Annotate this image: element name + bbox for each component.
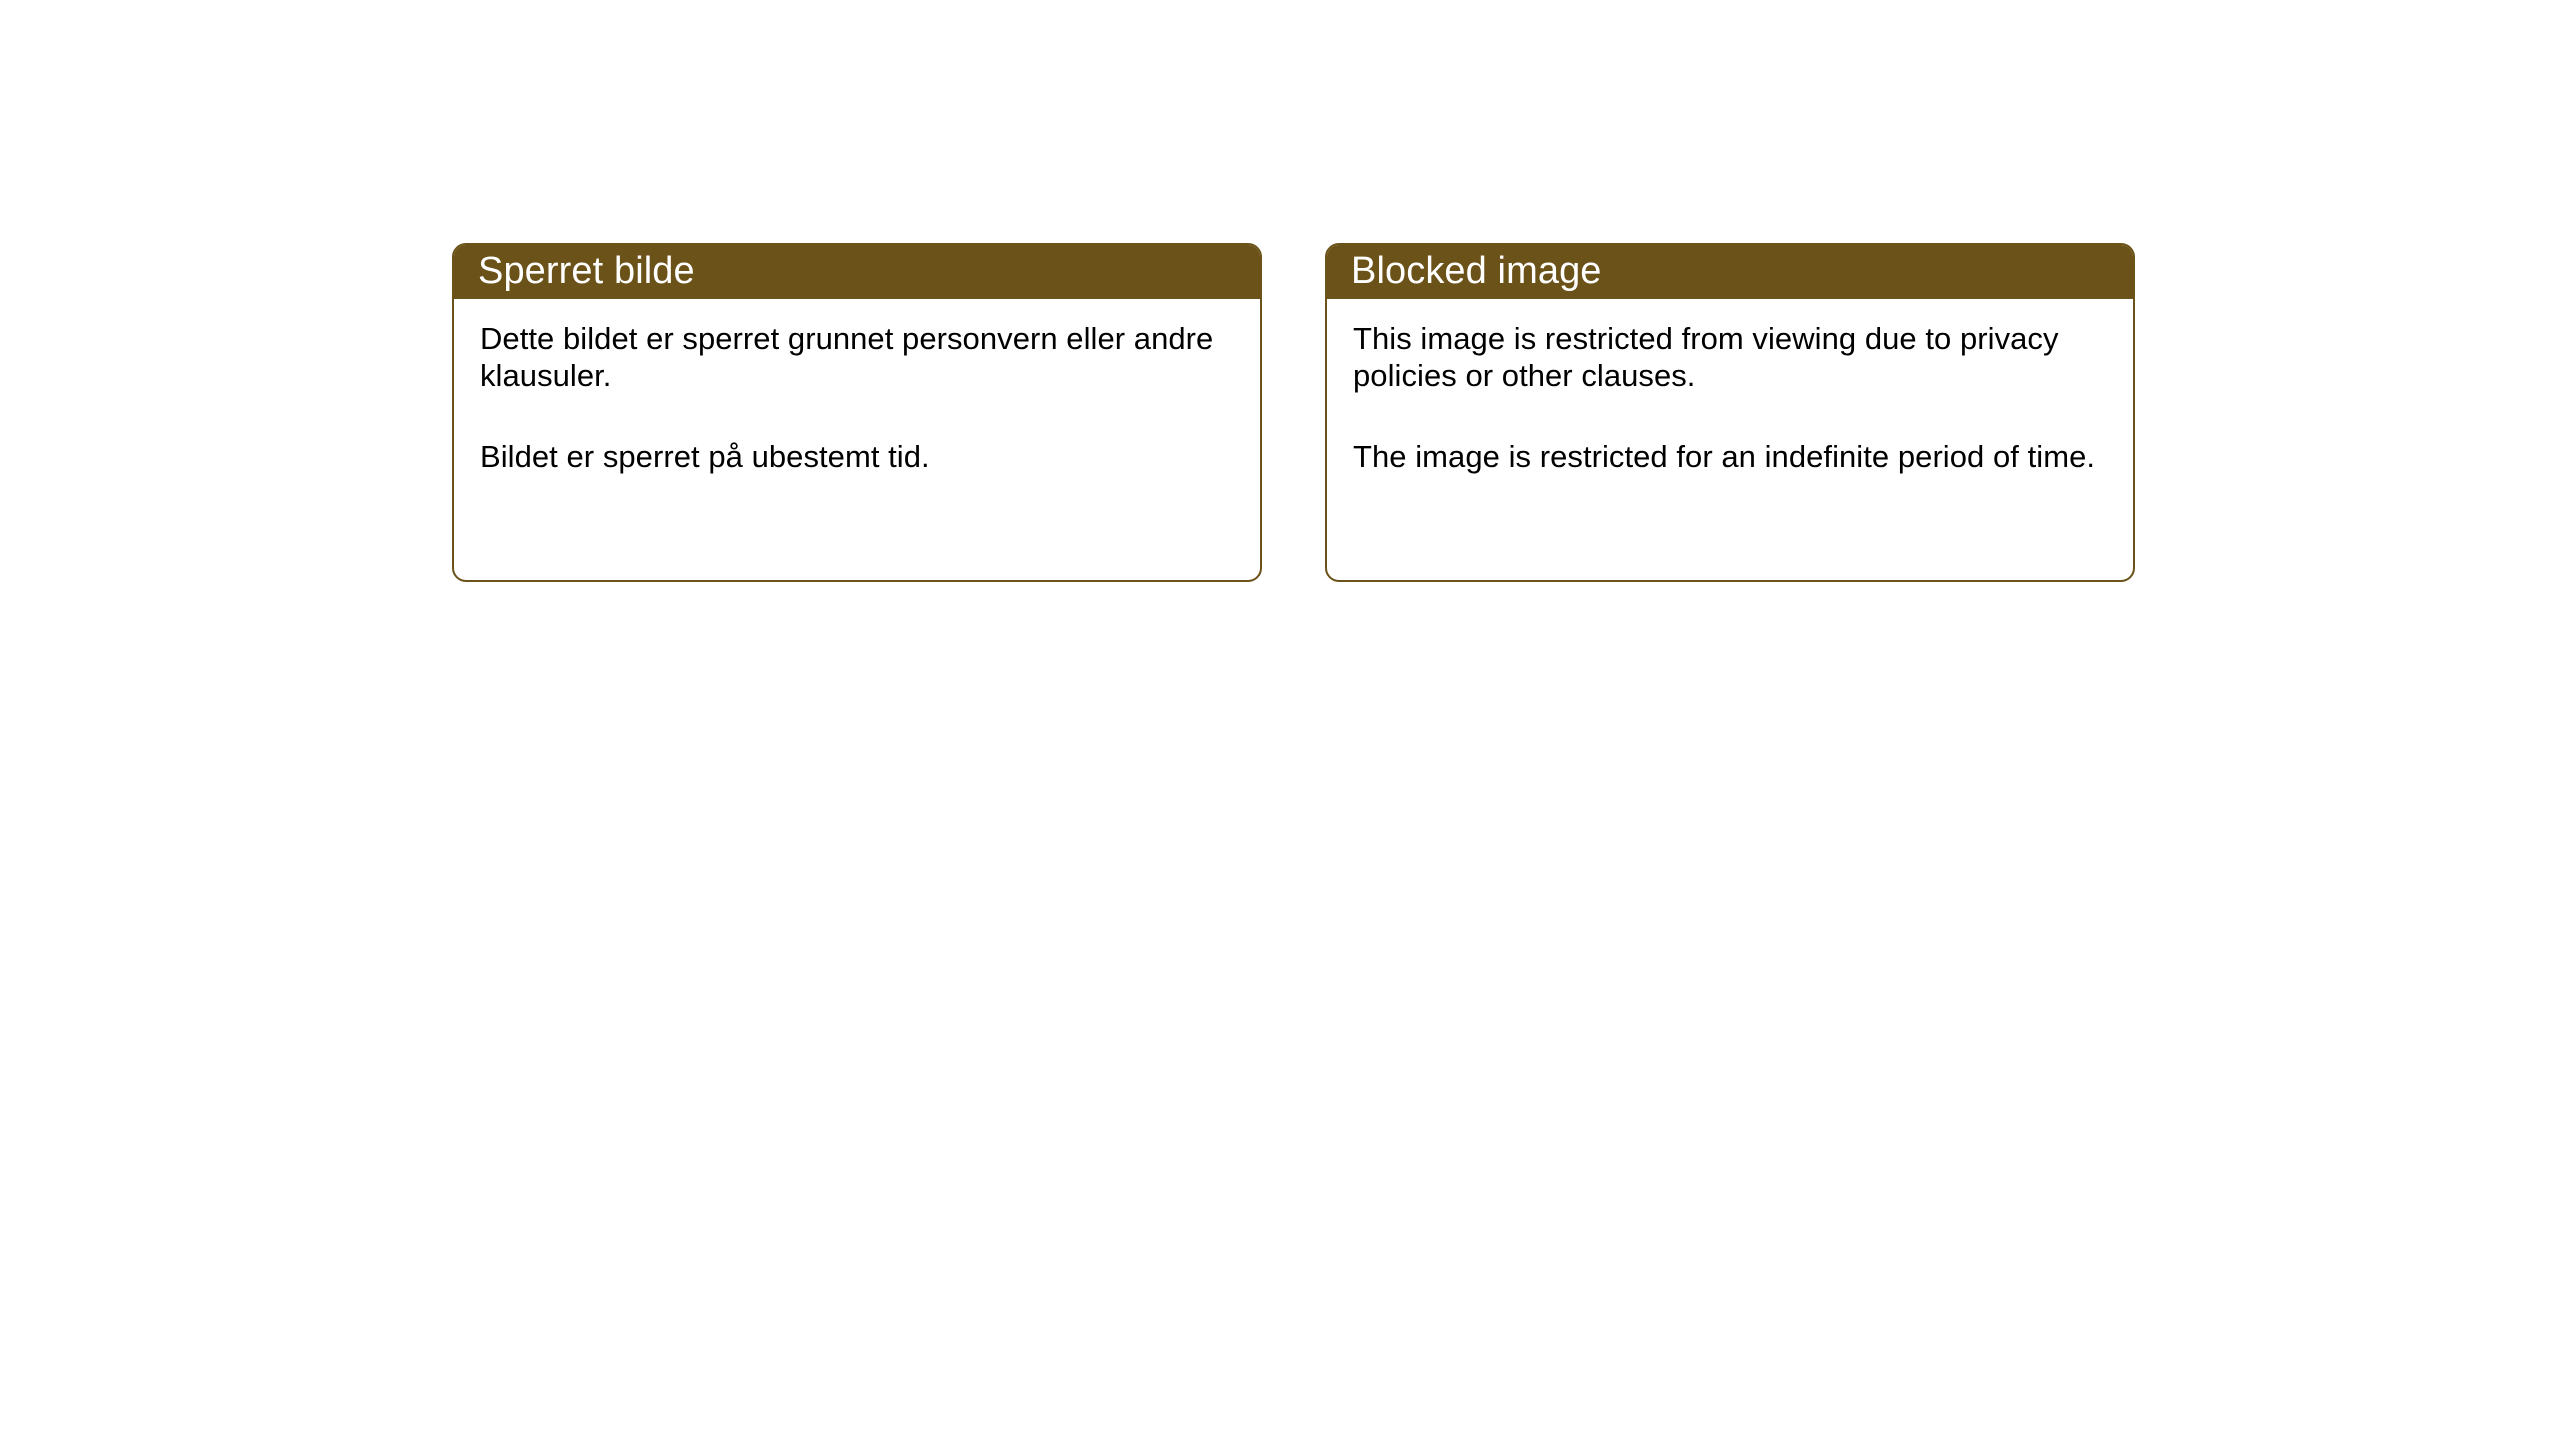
notice-title-english: Blocked image: [1351, 252, 1602, 290]
notice-body-norwegian: Dette bildet er sperret grunnet personve…: [454, 299, 1260, 580]
notice-paragraph-reason-english: This image is restricted from viewing du…: [1353, 321, 2107, 394]
notice-body-english: This image is restricted from viewing du…: [1327, 299, 2133, 580]
notice-title-norwegian: Sperret bilde: [478, 252, 695, 290]
notice-paragraph-duration-norwegian: Bildet er sperret på ubestemt tid.: [480, 439, 1234, 476]
blocked-image-notice-english: Blocked image This image is restricted f…: [1325, 243, 2135, 582]
notice-paragraph-duration-english: The image is restricted for an indefinit…: [1353, 439, 2107, 476]
blocked-image-notice-norwegian: Sperret bilde Dette bildet er sperret gr…: [452, 243, 1262, 582]
notice-paragraph-reason-norwegian: Dette bildet er sperret grunnet personve…: [480, 321, 1234, 394]
notice-header-english: Blocked image: [1325, 243, 2135, 299]
page-root: Sperret bilde Dette bildet er sperret gr…: [0, 0, 2560, 1440]
notice-header-norwegian: Sperret bilde: [452, 243, 1262, 299]
